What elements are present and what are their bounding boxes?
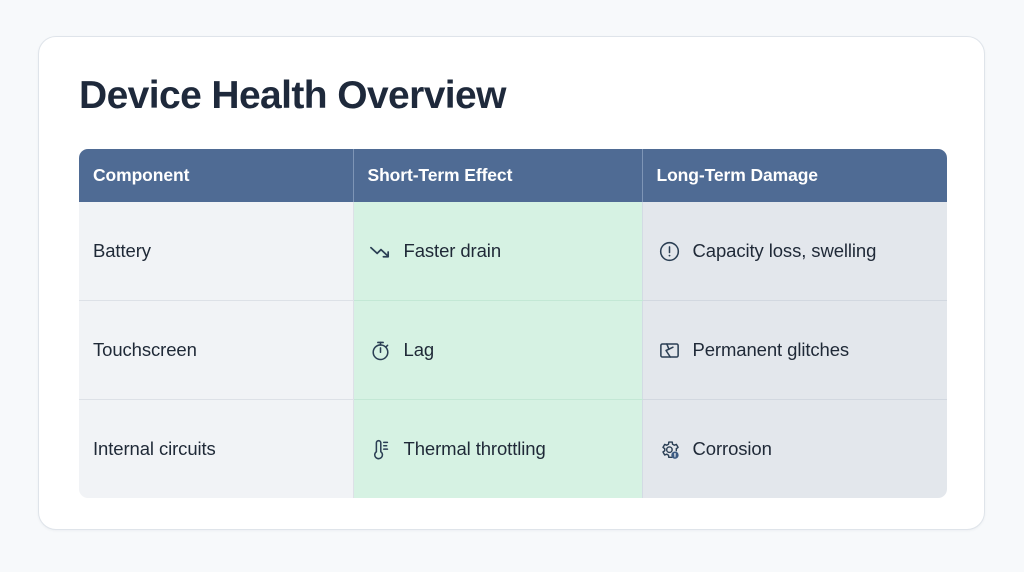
device-health-table: Component Short-Term Effect Long-Term Da… (79, 149, 947, 498)
long-term-damage-label: Permanent glitches (693, 339, 850, 361)
table-body: Battery Faster drain (79, 202, 947, 498)
cell-short-term-effect: Lag (353, 301, 642, 400)
cell-short-term-effect: Faster drain (353, 202, 642, 301)
table-row: Battery Faster drain (79, 202, 947, 301)
column-header-short-term-effect[interactable]: Short-Term Effect (353, 149, 642, 202)
component-label: Touchscreen (93, 339, 197, 360)
page-root: Device Health Overview Component Short-T… (0, 0, 1024, 572)
table-row: Internal circuits (79, 400, 947, 499)
cell-component: Battery (79, 202, 353, 301)
table-header-row: Component Short-Term Effect Long-Term Da… (79, 149, 947, 202)
trending-down-icon (368, 239, 393, 264)
column-header-long-term-damage[interactable]: Long-Term Damage (642, 149, 947, 202)
cracked-screen-icon (657, 338, 682, 363)
device-health-table-wrapper: Component Short-Term Effect Long-Term Da… (79, 149, 947, 498)
table-header: Component Short-Term Effect Long-Term Da… (79, 149, 947, 202)
column-header-component[interactable]: Component (79, 149, 353, 202)
short-term-effect-label: Lag (404, 339, 435, 361)
gear-alert-icon (657, 437, 682, 462)
table-row: Touchscreen (79, 301, 947, 400)
long-term-damage-label: Corrosion (693, 438, 772, 460)
component-label: Battery (93, 240, 151, 261)
cell-long-term-damage: Capacity loss, swelling (642, 202, 947, 301)
component-label: Internal circuits (93, 438, 216, 459)
cell-short-term-effect: Thermal throttling (353, 400, 642, 499)
cell-component: Internal circuits (79, 400, 353, 499)
device-health-card: Device Health Overview Component Short-T… (38, 36, 985, 530)
short-term-effect-label: Faster drain (404, 240, 502, 262)
thermometer-icon (368, 437, 393, 462)
page-title: Device Health Overview (79, 75, 506, 118)
cell-long-term-damage: Corrosion (642, 400, 947, 499)
short-term-effect-label: Thermal throttling (404, 438, 546, 460)
long-term-damage-label: Capacity loss, swelling (693, 240, 877, 262)
cell-long-term-damage: Permanent glitches (642, 301, 947, 400)
cell-component: Touchscreen (79, 301, 353, 400)
alert-circle-icon (657, 239, 682, 264)
stopwatch-icon (368, 338, 393, 363)
